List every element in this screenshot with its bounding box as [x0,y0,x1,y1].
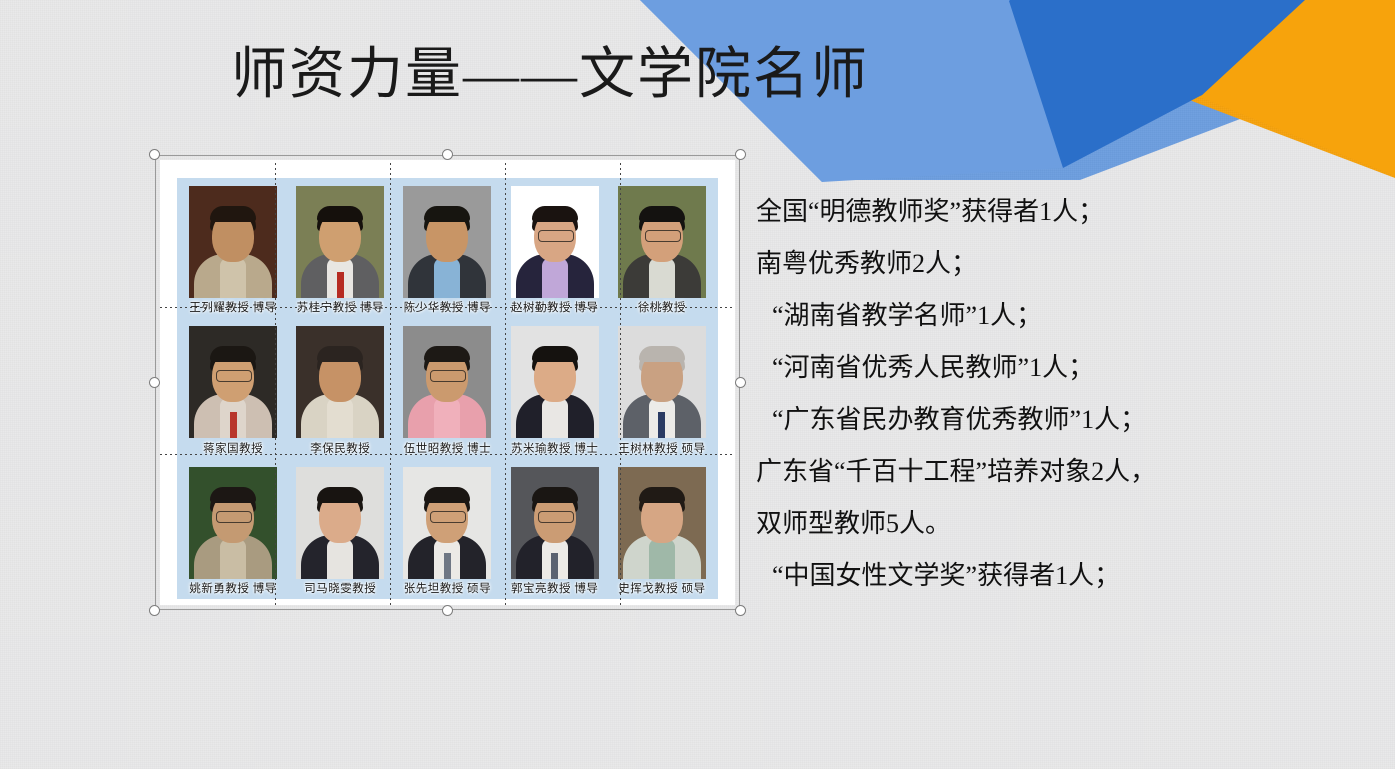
achievement-line: “湖南省教学名师”1人； [756,290,1366,342]
resize-handle-bottom-middle[interactable] [442,605,453,616]
achievement-line: “河南省优秀人民教师”1人； [756,342,1366,394]
achievements-list: 全国“明德教师奖”获得者1人；南粤优秀教师2人；“湖南省教学名师”1人；“河南省… [756,186,1366,602]
resize-handle-middle-right[interactable] [735,377,746,388]
achievement-line: 南粤优秀教师2人； [756,238,1366,290]
achievement-line: 广东省“千百十工程”培养对象2人， [756,446,1366,498]
achievement-line: “广东省民办教育优秀教师”1人； [756,394,1366,446]
achievement-line: “中国女性文学奖”获得者1人； [756,550,1366,602]
resize-handle-bottom-right[interactable] [735,605,746,616]
resize-handle-top-left[interactable] [149,149,160,160]
faculty-photo-collage[interactable]: 王列耀教授 博导苏桂宁教授 博导陈少华教授 博导赵树勤教授 博导徐桃教授蒋家国教… [155,155,740,610]
slide-canvas: 师资力量——文学院名师 王列耀教授 博导苏桂宁教授 博导陈少华教授 博导赵树勤教… [0,0,1395,769]
page-title: 师资力量——文学院名师 [0,40,1100,110]
resize-handle-top-middle[interactable] [442,149,453,160]
resize-handle-top-right[interactable] [735,149,746,160]
achievement-line: 双师型教师5人。 [756,498,1366,550]
resize-handle-middle-left[interactable] [149,377,160,388]
achievement-line: 全国“明德教师奖”获得者1人； [756,186,1366,238]
selection-frame [155,155,740,610]
resize-handle-bottom-left[interactable] [149,605,160,616]
